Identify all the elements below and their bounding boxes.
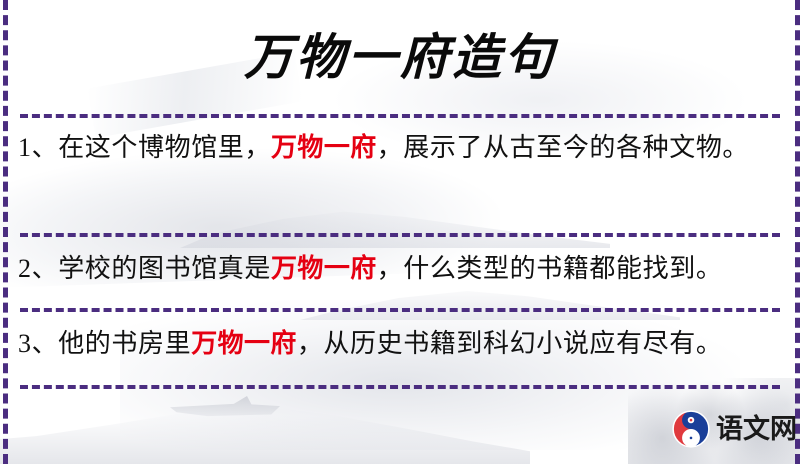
sentence-2-text-after: ，什么类型的书籍都能找到。 <box>377 254 723 283</box>
page-title: 万物一府造句 <box>0 18 800 89</box>
watermark-hill-bottom <box>0 392 530 464</box>
sentence-1-text-before: 在这个博物馆里， <box>58 133 271 162</box>
separator-line-3 <box>20 308 780 312</box>
separator-line-2 <box>20 233 780 237</box>
site-logo[interactable]: 语文网 <box>672 410 797 448</box>
sentence-3-text-before: 他的书房里 <box>58 329 191 358</box>
separator-line-4 <box>20 385 780 389</box>
watermark-boat <box>170 396 280 424</box>
separator-line-1 <box>20 114 780 118</box>
site-logo-text: 语文网 <box>716 416 797 443</box>
example-sentence-2: 2、学校的图书馆真是万物一府，什么类型的书籍都能找到。 <box>18 247 784 291</box>
sentence-3-text-after: ，从历史书籍到科幻小说应有尽有。 <box>297 329 723 358</box>
yinyang-fish-icon <box>672 410 710 448</box>
example-sentence-1: 1、在这个博物馆里，万物一府，展示了从古至今的各种文物。 <box>18 126 784 170</box>
sentence-1-text-after: ，展示了从古至今的各种文物。 <box>377 133 749 162</box>
sentence-3-idiom: 万物一府 <box>191 329 297 359</box>
sentence-2-text-before: 学校的图书馆真是 <box>58 254 271 283</box>
sentence-2-index: 2、 <box>18 254 58 283</box>
sentence-3-index: 3、 <box>18 329 58 358</box>
example-sentence-3: 3、他的书房里万物一府，从历史书籍到科幻小说应有尽有。 <box>18 322 784 366</box>
sentence-2-idiom: 万物一府 <box>271 254 377 284</box>
watermark-hill-middle <box>180 196 610 248</box>
sentence-1-idiom: 万物一府 <box>271 133 377 163</box>
sentence-example-card: 万物一府造句 1、在这个博物馆里，万物一府，展示了从古至今的各种文物。 2、学校… <box>0 0 800 464</box>
sentence-1-index: 1、 <box>18 133 58 162</box>
